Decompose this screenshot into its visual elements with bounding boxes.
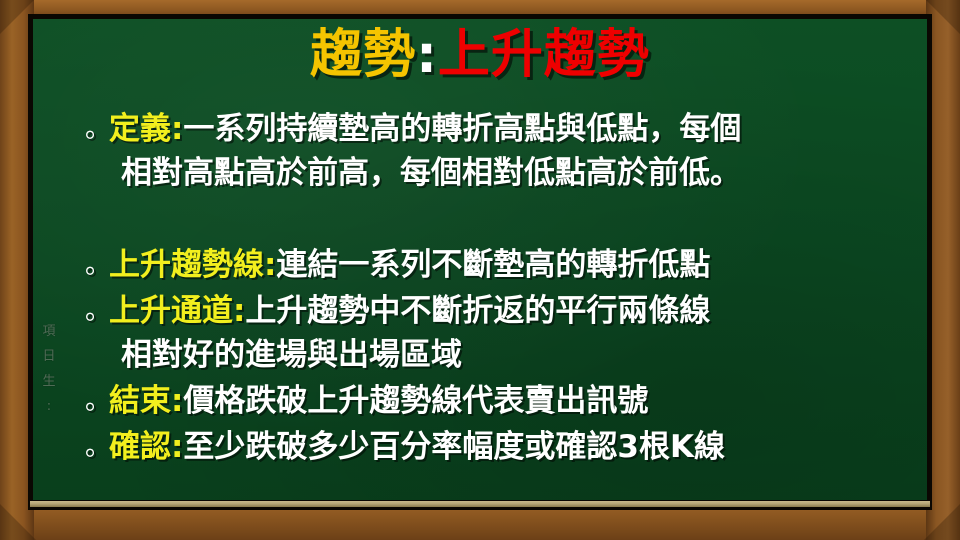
- list-item-text: 確認:至少跌破多少百分率幅度或確認3根K線: [109, 425, 913, 469]
- list-item-text: 定義:一系列持續墊高的轉折高點與低點，每個 相對高點高於前高，每個相對低點高於前…: [109, 107, 913, 195]
- list-item-continuation: 相對高點高於前高，每個相對低點高於前低。: [109, 151, 913, 195]
- chalk-ledge: [30, 501, 930, 507]
- watermark-char-4: :: [36, 394, 62, 419]
- bullet-marker-icon: 。: [85, 107, 109, 151]
- list-item-continuation: 相對好的進場與出場區域: [109, 333, 913, 377]
- list-item-detail: 上升趨勢中不斷折返的平行兩條線: [245, 293, 710, 329]
- bullet-marker-icon: 。: [85, 243, 109, 287]
- list-spacer: [85, 197, 913, 241]
- title-separator: :: [416, 25, 438, 85]
- list-item-text: 上升趨勢線:連結一系列不斷墊高的轉折低點: [109, 243, 913, 287]
- list-item-detail: 價格跌破上升趨勢線代表賣出訊號: [183, 383, 648, 419]
- list-item-text: 上升通道:上升趨勢中不斷折返的平行兩條線 相對好的進場與出場區域: [109, 289, 913, 377]
- watermark-vertical-text: 項 日 生 :: [36, 319, 62, 419]
- list-item-lead: 結束:: [109, 383, 183, 419]
- list-item-detail: 至少跌破多少百分率幅度或確認3根K線: [183, 429, 725, 465]
- list-item-lead: 確認:: [109, 429, 183, 465]
- list-item-detail: 一系列持續墊高的轉折高點與低點，每個: [183, 111, 741, 147]
- list-item-lead: 上升通道:: [109, 293, 245, 329]
- watermark-char-1: 項: [36, 319, 62, 344]
- list-item: 。 確認:至少跌破多少百分率幅度或確認3根K線: [85, 425, 913, 469]
- watermark-char-3: 生: [36, 369, 62, 394]
- list-item-lead: 定義:: [109, 111, 183, 147]
- watermark-char-2: 日: [36, 344, 62, 369]
- bullet-marker-icon: 。: [85, 425, 109, 469]
- list-item: 。 上升趨勢線:連結一系列不斷墊高的轉折低點: [85, 243, 913, 287]
- list-item: 。 結束:價格跌破上升趨勢線代表賣出訊號: [85, 379, 913, 423]
- list-item-detail: 連結一系列不斷墊高的轉折低點: [276, 247, 710, 283]
- list-item: 。 上升通道:上升趨勢中不斷折返的平行兩條線 相對好的進場與出場區域: [85, 289, 913, 377]
- bullet-marker-icon: 。: [85, 379, 109, 423]
- list-item-text: 結束:價格跌破上升趨勢線代表賣出訊號: [109, 379, 913, 423]
- chalkboard-surface: 趨勢:上升趨勢 。 定義:一系列持續墊高的轉折高點與低點，每個 相對高點高於前高…: [33, 19, 927, 500]
- bullet-list: 。 定義:一系列持續墊高的轉折高點與低點，每個 相對高點高於前高，每個相對低點高…: [85, 107, 913, 471]
- list-item: 。 定義:一系列持續墊高的轉折高點與低點，每個 相對高點高於前高，每個相對低點高…: [85, 107, 913, 195]
- chalkboard-slide: 趨勢:上升趨勢 。 定義:一系列持續墊高的轉折高點與低點，每個 相對高點高於前高…: [0, 0, 960, 540]
- title-highlight: 上升趨勢: [438, 25, 650, 85]
- bullet-marker-icon: 。: [85, 289, 109, 333]
- title-main: 趨勢: [310, 25, 416, 85]
- list-item-lead: 上升趨勢線:: [109, 247, 276, 283]
- page-title: 趨勢:上升趨勢: [33, 27, 927, 84]
